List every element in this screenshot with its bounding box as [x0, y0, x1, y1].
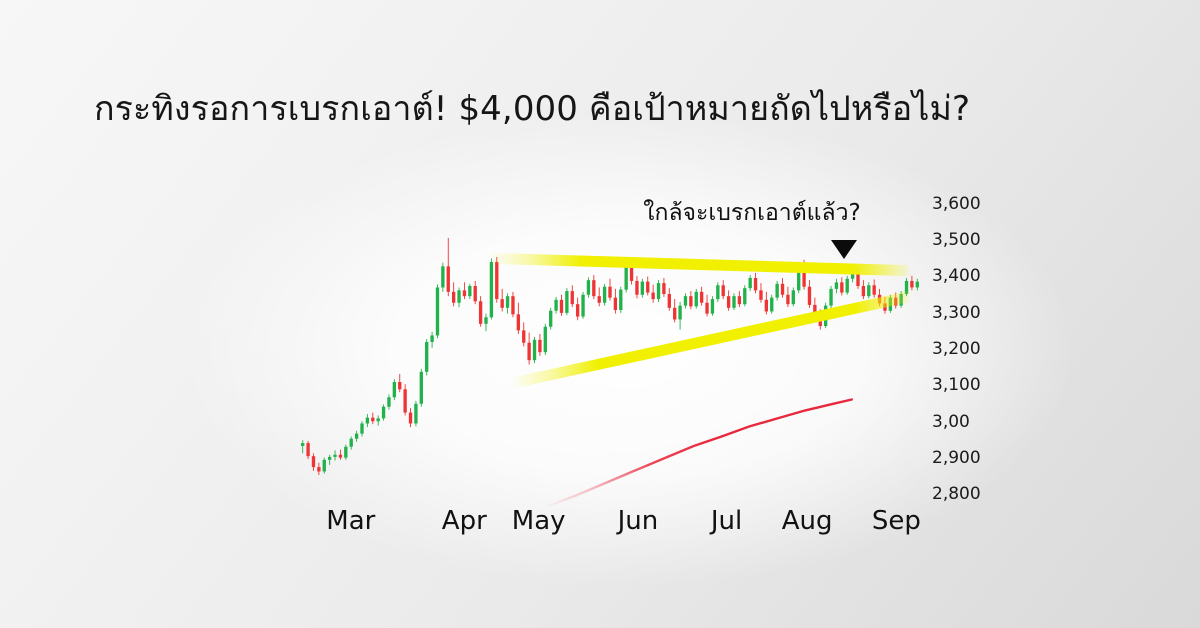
candlestick-plot-area [300, 190, 920, 510]
moving-average-line [545, 400, 852, 508]
x-axis-tick: May [512, 506, 566, 536]
page-title: กระทิงรอการเบรกเอาต์! $4,000 คือเป้าหมาย… [94, 87, 970, 131]
x-axis-tick: Sep [872, 506, 921, 536]
x-axis-tick: Jun [618, 506, 659, 536]
y-axis-tick: 3,400 [932, 266, 981, 286]
down-triangle-icon [831, 240, 857, 259]
y-axis-tick: 3,100 [932, 375, 981, 395]
upper-resistance [489, 258, 911, 270]
y-axis: 3,6003,5003,4003,3003,2003,1003,002,9002… [932, 190, 1002, 510]
y-axis-tick: 3,300 [932, 303, 981, 323]
x-axis-tick: Jul [711, 506, 742, 536]
x-axis: MarAprMayJunJulAugSep [300, 506, 940, 546]
infographic-canvas: กระทิงรอการเบรกเอาต์! $4,000 คือเป้าหมาย… [0, 0, 1200, 628]
breakout-annotation-label: ใกล้จะเบรกเอาต์แล้ว? [632, 198, 872, 228]
lower-support [511, 296, 911, 383]
y-axis-tick: 2,800 [932, 484, 981, 504]
x-axis-tick: Apr [442, 506, 487, 536]
price-chart: ใกล้จะเบรกเอาต์แล้ว? 3,6003,5003,4003,30… [300, 190, 1000, 540]
x-axis-tick: Mar [326, 506, 375, 536]
y-axis-tick: 2,900 [932, 448, 981, 468]
y-axis-tick: 3,200 [932, 339, 981, 359]
y-axis-tick: 3,600 [932, 194, 981, 214]
y-axis-tick: 3,00 [932, 412, 970, 432]
y-axis-tick: 3,500 [932, 230, 981, 250]
x-axis-tick: Aug [782, 506, 833, 536]
